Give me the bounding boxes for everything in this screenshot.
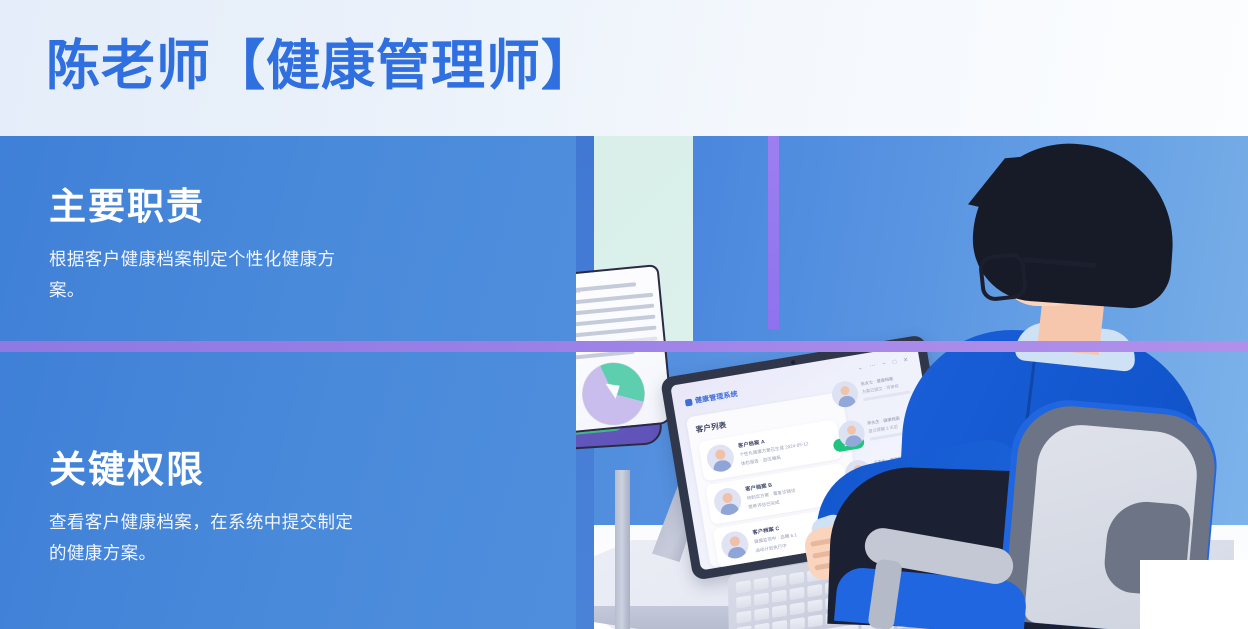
panel-divider <box>0 341 1248 352</box>
floor-highlight <box>1140 560 1248 629</box>
page-title: 陈老师【健康管理师】 <box>46 29 596 103</box>
panel-main-duty: 主要职责 根据客户健康档案制定个性化健康方案。 <box>0 136 576 341</box>
desk-leg-left <box>615 470 630 629</box>
panel-key-permission: 关键权限 查看客户健康档案，在系统中提交制定的健康方案。 <box>0 352 576 629</box>
panel-key-permission-heading: 关键权限 <box>49 439 205 493</box>
panel-key-permission-body: 查看客户健康档案，在系统中提交制定的健康方案。 <box>49 507 359 569</box>
panel-main-duty-body: 根据客户健康档案制定个性化健康方案。 <box>49 244 359 306</box>
panel-main-duty-heading: 主要职责 <box>49 176 205 230</box>
poster-canvas: 陈老师【健康管理师】 健康数据报告 客户健康趋势 <box>0 0 1248 629</box>
header-bar: 陈老师【健康管理师】 <box>0 0 1248 136</box>
glasses-icon <box>978 252 1029 303</box>
